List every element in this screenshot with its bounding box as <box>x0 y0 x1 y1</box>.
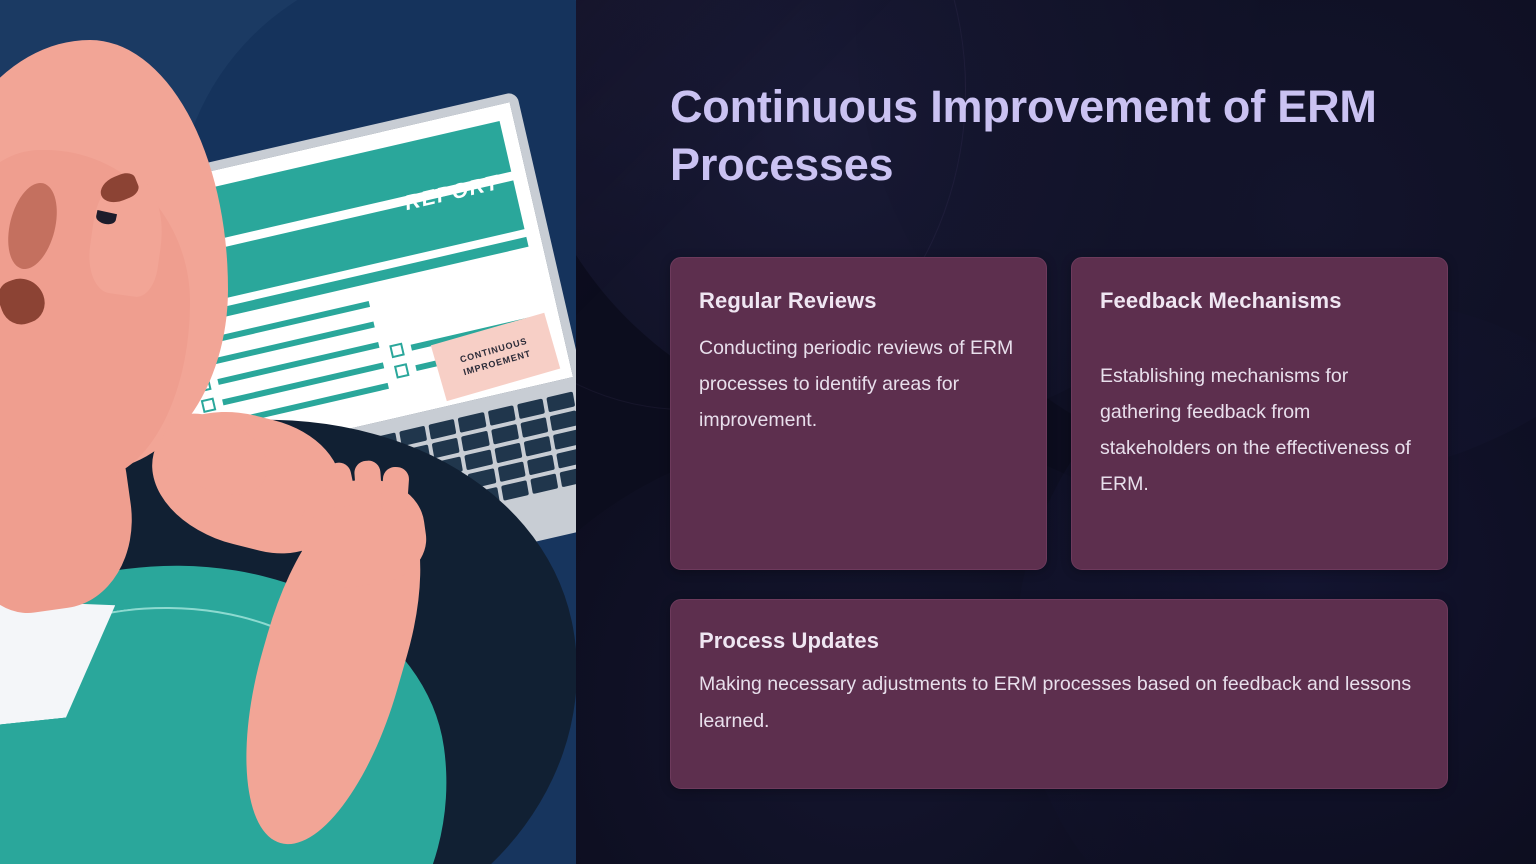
card-body: Establishing mechanisms for gathering fe… <box>1100 358 1419 502</box>
illustration-panel: REPORT <box>0 0 576 864</box>
card-title: Process Updates <box>699 628 1419 654</box>
slide-root: REPORT <box>0 0 1536 864</box>
card-feedback-mechanisms[interactable]: Feedback Mechanisms Establishing mechani… <box>1071 257 1448 570</box>
checkbox-icon <box>389 343 405 359</box>
page-title: Continuous Improvement of ERM Processes <box>670 78 1410 193</box>
card-body: Conducting periodic reviews of ERM proce… <box>699 330 1018 438</box>
checkbox-icon <box>201 397 217 413</box>
card-process-updates[interactable]: Process Updates Making necessary adjustm… <box>670 599 1448 789</box>
card-regular-reviews[interactable]: Regular Reviews Conducting periodic revi… <box>670 257 1047 570</box>
card-title: Regular Reviews <box>699 288 1018 314</box>
cards-top-row: Regular Reviews Conducting periodic revi… <box>670 257 1448 570</box>
card-body: Making necessary adjustments to ERM proc… <box>699 666 1419 740</box>
content-panel: Continuous Improvement of ERM Processes … <box>576 0 1536 864</box>
cards-container: Regular Reviews Conducting periodic revi… <box>670 257 1448 789</box>
checkbox-checked-icon <box>394 363 410 379</box>
card-title: Feedback Mechanisms <box>1100 288 1419 314</box>
